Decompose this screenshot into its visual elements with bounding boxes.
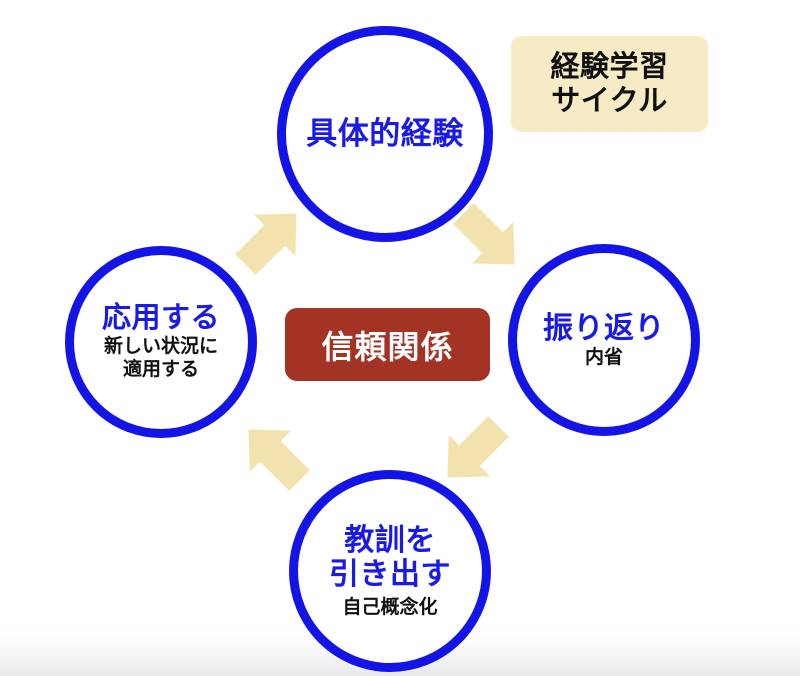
- arrow-up-right-icon: [228, 196, 314, 282]
- center-badge-label: 信頼関係: [321, 322, 453, 368]
- title-line-1: 経験学習: [550, 50, 668, 84]
- cycle-node-lesson-label: 教訓を 引き出す: [329, 524, 451, 594]
- cycle-node-lesson-sublabel: 自己概念化: [342, 597, 437, 618]
- cycle-node-reflection-label: 振り返り: [543, 312, 665, 346]
- cycle-node-apply-label: 応用する: [102, 302, 220, 334]
- title-line-2: サイクル: [551, 84, 668, 118]
- cycle-node-reflection[interactable]: 振り返り 内省: [508, 244, 700, 436]
- center-badge-trust: 信頼関係: [285, 308, 490, 381]
- arrow-down-left-icon: [430, 409, 516, 495]
- arrow-down-right-icon: [446, 196, 532, 282]
- cycle-node-apply-sublabel: 新しい状況に 適用する: [104, 336, 218, 382]
- arrow-up-left-icon: [231, 412, 317, 498]
- cycle-node-lesson[interactable]: 教訓を 引き出す 自己概念化: [289, 470, 491, 672]
- diagram-canvas: 経験学習 サイクル 具体的経験 振り返り 内省 教訓を 引き出す 自己概念化 応…: [0, 0, 800, 676]
- cycle-node-experience-label: 具体的経験: [306, 117, 464, 152]
- title-card: 経験学習 サイクル: [511, 36, 708, 132]
- cycle-node-reflection-sublabel: 内省: [585, 347, 623, 368]
